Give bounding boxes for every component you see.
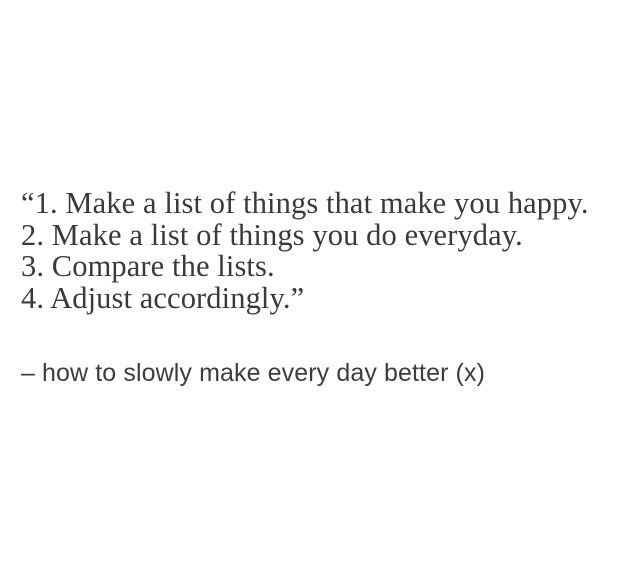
quote-line-1: “1. Make a list of things that make you … — [21, 188, 630, 220]
quote-line-2: 2. Make a list of things you do everyday… — [21, 220, 630, 252]
attribution-line: – how to slowly make every day better (x… — [21, 358, 485, 388]
quote-image-canvas: “1. Make a list of things that make you … — [0, 0, 630, 569]
quote-line-4: 4. Adjust accordingly.” — [21, 283, 630, 315]
quote-line-3: 3. Compare the lists. — [21, 251, 630, 283]
quote-text-block: “1. Make a list of things that make you … — [21, 188, 630, 314]
